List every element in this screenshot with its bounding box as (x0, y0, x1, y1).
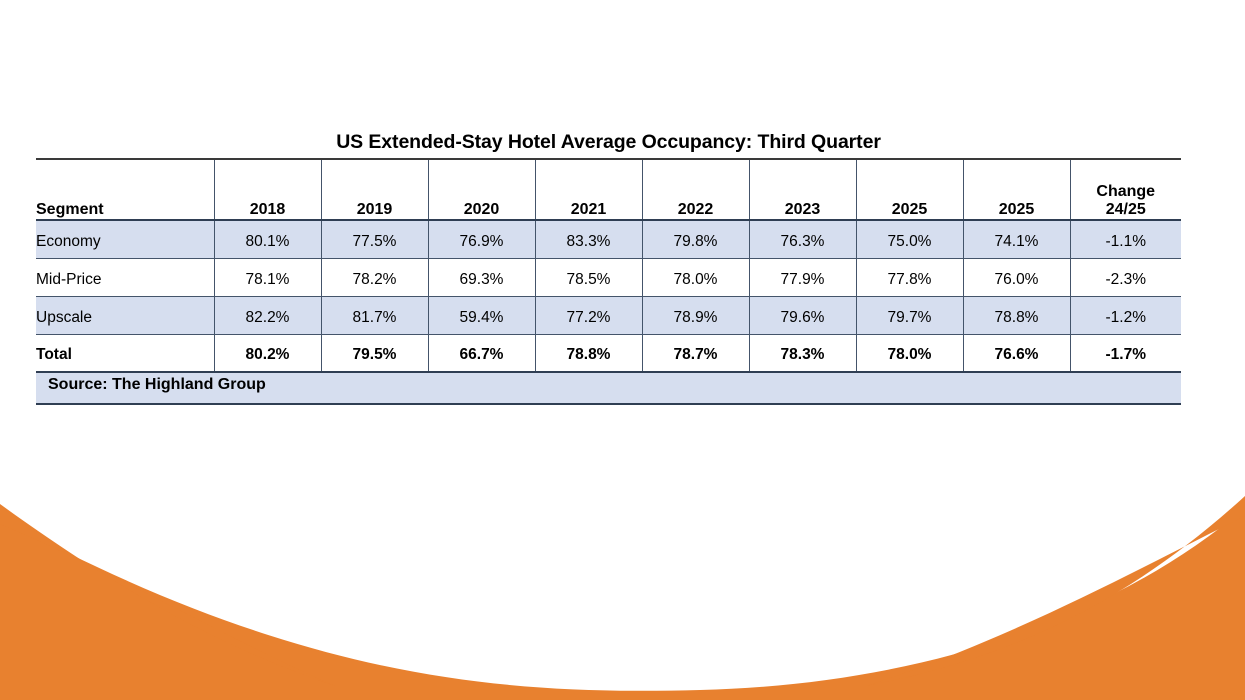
cell-total-2022: 78.7% (642, 334, 749, 372)
table-row-economy: Economy 80.1% 77.5% 76.9% 83.3% 79.8% 76… (36, 220, 1181, 258)
column-header-2025-a: 2025 (856, 159, 963, 220)
change-header-line2: 24/25 (1071, 201, 1182, 219)
cell-upscale-2025-a: 79.7% (856, 296, 963, 334)
cell-mid-price-2025-a: 77.8% (856, 258, 963, 296)
cell-total-2023: 78.3% (749, 334, 856, 372)
column-header-segment: Segment (36, 159, 214, 220)
cell-mid-price-2020: 69.3% (428, 258, 535, 296)
column-header-2025-b: 2025 (963, 159, 1070, 220)
table-header-row: Segment 2018 2019 2020 2021 2022 2023 20… (36, 159, 1181, 220)
cell-upscale-2023: 79.6% (749, 296, 856, 334)
source-note: Source: The Highland Group (36, 372, 1181, 404)
occupancy-table: Segment 2018 2019 2020 2021 2022 2023 20… (36, 158, 1181, 405)
cell-economy-2018: 80.1% (214, 220, 321, 258)
table-row-total: Total 80.2% 79.5% 66.7% 78.8% 78.7% 78.3… (36, 334, 1181, 372)
column-header-2023: 2023 (749, 159, 856, 220)
cell-total-2021: 78.8% (535, 334, 642, 372)
row-label-total: Total (36, 334, 214, 372)
cell-upscale-2022: 78.9% (642, 296, 749, 334)
cell-economy-2020: 76.9% (428, 220, 535, 258)
cell-economy-2025-b: 74.1% (963, 220, 1070, 258)
table-title: US Extended-Stay Hotel Average Occupancy… (36, 131, 1181, 158)
row-label-upscale: Upscale (36, 296, 214, 334)
cell-upscale-2020: 59.4% (428, 296, 535, 334)
cell-total-change: -1.7% (1070, 334, 1181, 372)
occupancy-table-block: US Extended-Stay Hotel Average Occupancy… (36, 131, 1181, 405)
column-header-2018: 2018 (214, 159, 321, 220)
wave-shape-right-sliver (866, 496, 1245, 686)
row-label-mid-price: Mid-Price (36, 258, 214, 296)
cell-mid-price-2022: 78.0% (642, 258, 749, 296)
wave-shape-primary (0, 508, 1245, 700)
bottom-wave-decoration (0, 490, 1245, 700)
cell-mid-price-change: -2.3% (1070, 258, 1181, 296)
column-header-2019: 2019 (321, 159, 428, 220)
cell-upscale-2021: 77.2% (535, 296, 642, 334)
cell-total-2025-b: 76.6% (963, 334, 1070, 372)
cell-economy-change: -1.1% (1070, 220, 1181, 258)
cell-upscale-change: -1.2% (1070, 296, 1181, 334)
cell-total-2019: 79.5% (321, 334, 428, 372)
column-header-change: Change 24/25 (1070, 159, 1181, 220)
column-header-2020: 2020 (428, 159, 535, 220)
cell-total-2025-a: 78.0% (856, 334, 963, 372)
cell-mid-price-2021: 78.5% (535, 258, 642, 296)
cell-upscale-2025-b: 78.8% (963, 296, 1070, 334)
cell-total-2018: 80.2% (214, 334, 321, 372)
cell-upscale-2018: 82.2% (214, 296, 321, 334)
table-row-mid-price: Mid-Price 78.1% 78.2% 69.3% 78.5% 78.0% … (36, 258, 1181, 296)
cell-upscale-2019: 81.7% (321, 296, 428, 334)
cell-economy-2022: 79.8% (642, 220, 749, 258)
column-header-2022: 2022 (642, 159, 749, 220)
cell-mid-price-2023: 77.9% (749, 258, 856, 296)
cell-economy-2019: 77.5% (321, 220, 428, 258)
cell-economy-2021: 83.3% (535, 220, 642, 258)
table-row-source: Source: The Highland Group (36, 372, 1181, 404)
bottom-wave-svg (0, 490, 1245, 700)
cell-mid-price-2019: 78.2% (321, 258, 428, 296)
change-header-line1: Change (1071, 183, 1182, 201)
wave-shape-left-sliver (0, 504, 335, 686)
row-label-economy: Economy (36, 220, 214, 258)
cell-economy-2023: 76.3% (749, 220, 856, 258)
column-header-2021: 2021 (535, 159, 642, 220)
cell-economy-2025-a: 75.0% (856, 220, 963, 258)
cell-mid-price-2018: 78.1% (214, 258, 321, 296)
cell-total-2020: 66.7% (428, 334, 535, 372)
cell-mid-price-2025-b: 76.0% (963, 258, 1070, 296)
table-row-upscale: Upscale 82.2% 81.7% 59.4% 77.2% 78.9% 79… (36, 296, 1181, 334)
slide-canvas: US Extended-Stay Hotel Average Occupancy… (0, 0, 1245, 700)
